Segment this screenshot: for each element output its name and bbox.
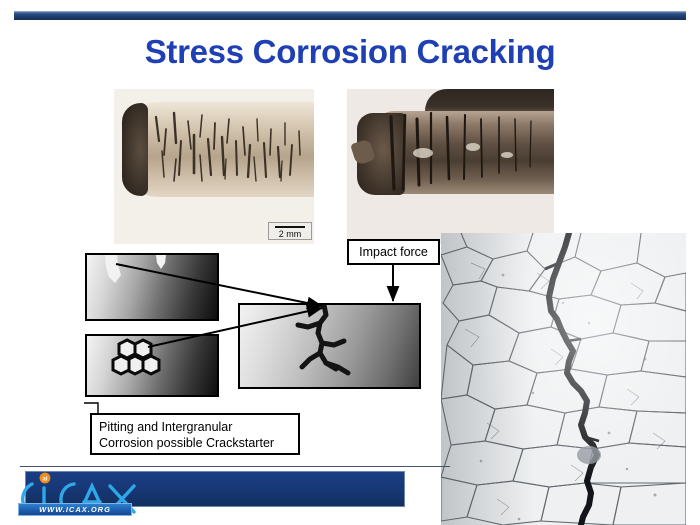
crackstarter-caption: Pitting and Intergranular Corrosion poss… [90,413,300,455]
diagram-block-pitting [85,253,219,321]
micrograph-intergranular-crack [441,233,686,525]
scale-bar-label: 2 mm [279,229,302,239]
caption-line-1: Pitting and Intergranular [99,419,291,435]
hexagon-grain-cluster [87,336,219,397]
rod-crack-overlay [114,89,314,244]
pit-shapes [87,255,219,321]
icax-website-url[interactable]: WWW.ICAX.ORG [18,503,132,516]
footer-divider [20,466,450,467]
page-title: Stress Corrosion Cracking [0,33,700,71]
branching-crack-shape [240,305,421,389]
scale-bar-line [275,226,305,228]
caption-line-2: Corrosion possible Crackstarter [99,435,291,451]
top-accent-bar [14,11,686,20]
diagram-block-crack-propagation [238,303,421,389]
impact-force-label: Impact force [347,239,440,265]
slide-canvas: Stress Corrosion Cracking [0,0,700,525]
rod-crack-overlay [347,89,554,244]
diagram-block-intergranular [85,334,219,397]
scale-bar-2mm: 2 mm [268,222,312,240]
svg-text:ai: ai [43,477,48,483]
photo-corroded-rod-right [347,89,554,244]
photo-corroded-rod-left [114,89,314,244]
grain-boundary-network [441,233,686,525]
